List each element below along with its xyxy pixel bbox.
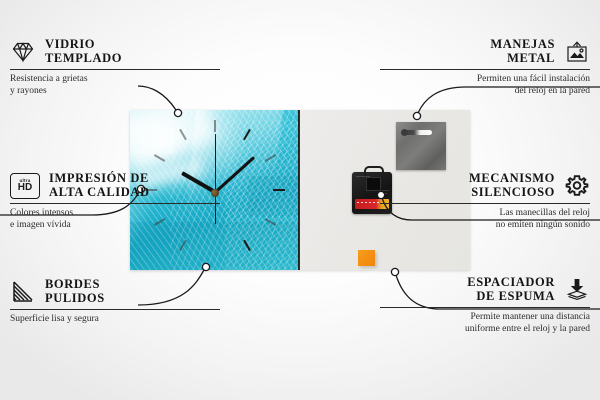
feature-divider [10, 203, 220, 204]
wall-frame-hanger-icon [564, 39, 590, 65]
feature-divider [10, 309, 220, 310]
clock-tick [265, 218, 276, 226]
feature-divider [380, 69, 590, 70]
feature-header: ESPACIADOR DE ESPUMA [380, 276, 590, 303]
feature-title-line1: MANEJAS [490, 37, 555, 51]
clock-tick [154, 154, 165, 162]
feature-description: Resistencia a grietas y rayones [10, 74, 220, 97]
mechanism-shaft [366, 177, 381, 191]
feature-title-line1: VIDRIO [45, 37, 95, 51]
feature-desc-line1: Permite mantener una distancia [380, 312, 590, 324]
feature-desc-line2: no emiten ningún sonido [380, 220, 590, 232]
diamond-icon [10, 39, 36, 65]
feature-desc-line1: Resistencia a grietas [10, 74, 220, 86]
feature-title: ESPACIADOR DE ESPUMA [467, 276, 555, 303]
feature-impresion-alta-calidad: ultra HD IMPRESIÓN DE ALTA CALIDAD Color… [10, 172, 220, 231]
feature-description: Las manecillas del reloj no emiten ningú… [380, 208, 590, 231]
feature-desc-line1: Colores intensos [10, 208, 220, 220]
feature-desc-line2: del reloj en la pared [380, 86, 590, 98]
feature-title: MECANISMO SILENCIOSO [469, 172, 555, 199]
ultra-hd-icon: ultra HD [10, 173, 40, 199]
feature-header: MECANISMO SILENCIOSO [380, 172, 590, 199]
foam-spacer [358, 250, 375, 266]
hanger-keyhole-slot [404, 130, 432, 135]
feature-title: BORDES PULIDOS [45, 278, 105, 305]
metal-hanger-plate [396, 122, 446, 170]
feature-description: Permiten una fácil instalación del reloj… [380, 74, 590, 97]
feature-title: IMPRESIÓN DE ALTA CALIDAD [49, 172, 150, 199]
feature-desc-line2: y rayones [10, 86, 220, 98]
clock-tick [273, 189, 285, 191]
feature-desc-line1: Las manecillas del reloj [380, 208, 590, 220]
feature-description: Permite mantener una distancia uniforme … [380, 312, 590, 335]
feature-espaciador-espuma: ESPACIADOR DE ESPUMA Permite mantener un… [380, 276, 590, 335]
feature-title-line1: MECANISMO [469, 171, 555, 185]
feature-header: BORDES PULIDOS [10, 278, 220, 305]
feature-desc-line2: e imagen vívida [10, 220, 220, 232]
clock-tick [214, 120, 216, 132]
clock-tick [265, 154, 276, 162]
clock-tick [179, 129, 187, 140]
clock-tick [243, 129, 251, 140]
feature-title: VIDRIO TEMPLADO [45, 38, 122, 65]
clock-tick [243, 240, 251, 251]
feature-divider [380, 307, 590, 308]
feature-title: MANEJAS METAL [490, 38, 555, 65]
feature-header: VIDRIO TEMPLADO [10, 38, 220, 65]
feature-title-line2: SILENCIOSO [469, 186, 555, 200]
product-infographic: VIDRIO TEMPLADO Resistencia a grietas y … [0, 0, 600, 400]
feature-header: MANEJAS METAL [380, 38, 590, 65]
hd-icon-main-label: HD [18, 183, 32, 193]
feature-desc-line2: uniforme entre el reloj y la pared [380, 324, 590, 336]
feature-manejas-metal: MANEJAS METAL Permiten una fácil instala… [380, 38, 590, 97]
clock-minute-hand [214, 156, 255, 193]
feature-bordes-pulidos: BORDES PULIDOS Superficie lisa y segura [10, 278, 220, 326]
feature-divider [10, 69, 220, 70]
clock-tick [179, 240, 187, 251]
feature-title-line2: ALTA CALIDAD [49, 186, 150, 200]
feature-title-line2: TEMPLADO [45, 52, 122, 66]
feature-title-line2: PULIDOS [45, 292, 105, 306]
feature-title-line2: DE ESPUMA [467, 290, 555, 304]
feature-title-line1: BORDES [45, 277, 100, 291]
feature-mecanismo-silencioso: MECANISMO SILENCIOSO Las manecillas del … [380, 172, 590, 231]
feature-title-line1: ESPACIADOR [467, 275, 555, 289]
gear-icon [564, 173, 590, 199]
feature-desc-line1: Permiten una fácil instalación [380, 74, 590, 86]
feature-vidrio-templado: VIDRIO TEMPLADO Resistencia a grietas y … [10, 38, 220, 97]
feature-desc-line1: Superficie lisa y segura [10, 314, 220, 326]
feature-description: Superficie lisa y segura [10, 314, 220, 326]
arrow-down-layers-icon [564, 277, 590, 303]
feature-header: ultra HD IMPRESIÓN DE ALTA CALIDAD [10, 172, 220, 199]
feature-title-line1: IMPRESIÓN DE [49, 171, 149, 185]
feature-divider [380, 203, 590, 204]
feature-description: Colores intensos e imagen vívida [10, 208, 220, 231]
mechanism-detail-line [356, 176, 370, 177]
feature-title-line2: METAL [490, 52, 555, 66]
polished-edge-icon [10, 279, 36, 305]
